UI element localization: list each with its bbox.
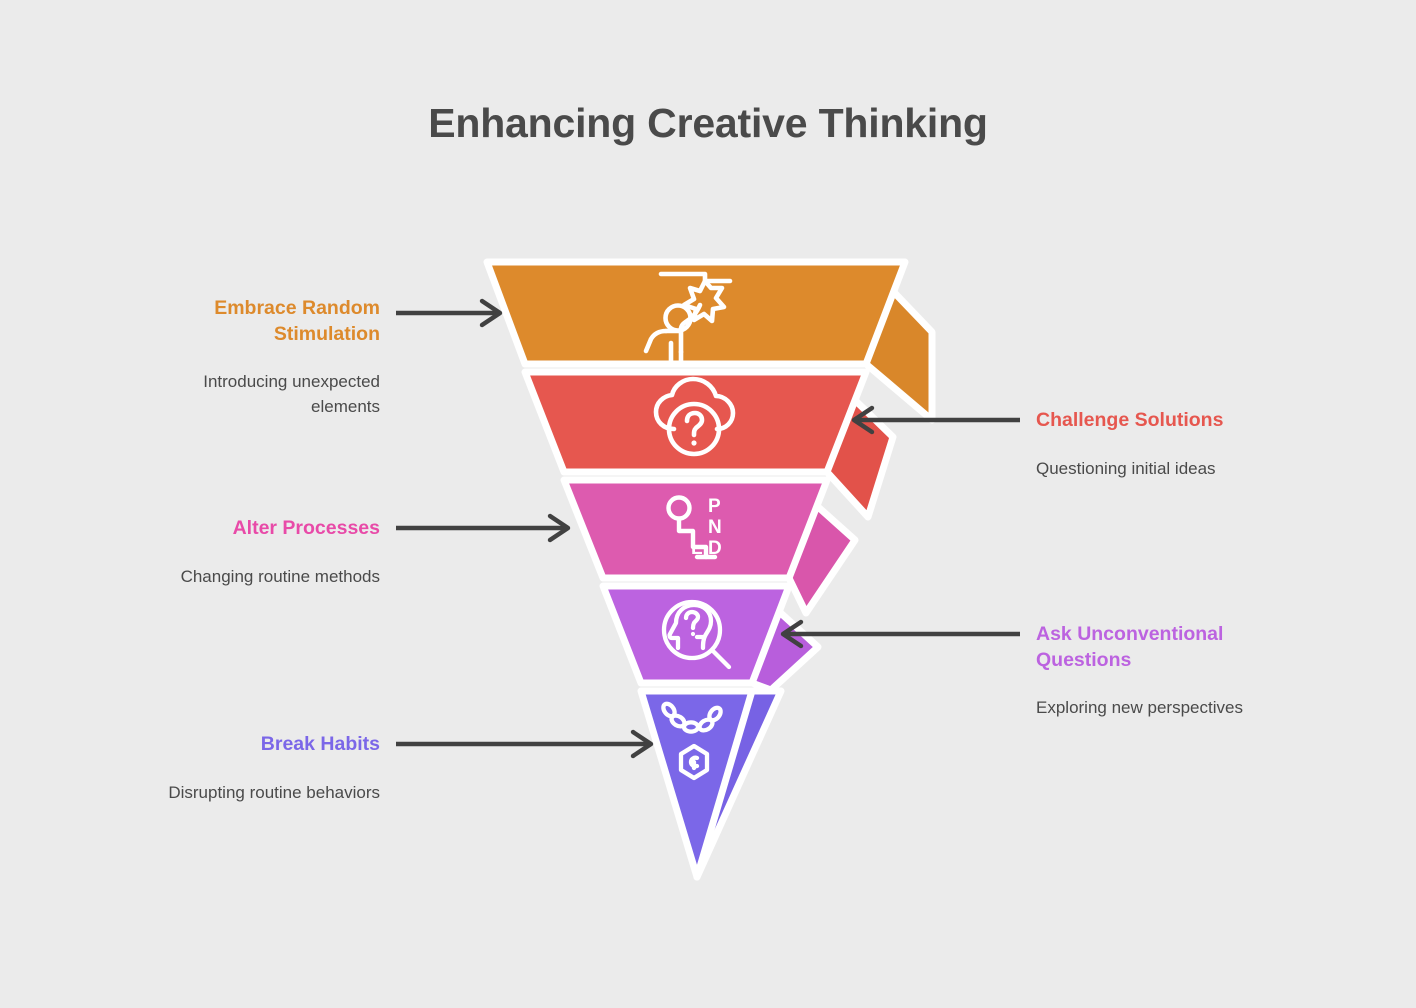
stage-5-title: Break Habits — [110, 731, 380, 757]
stage-3-label-block: Alter Processes Changing routine methods — [110, 515, 380, 589]
shifter-label-d: D — [708, 538, 722, 559]
funnel-diagram: P N D L — [0, 0, 1416, 1008]
stage-3-description: Changing routine methods — [110, 564, 380, 589]
arrow-stage-5 — [396, 732, 651, 756]
arrow-stage-1 — [396, 301, 500, 325]
stage-3-title: Alter Processes — [110, 515, 380, 541]
infographic-canvas: Enhancing Creative Thinking — [0, 0, 1416, 1008]
stage-2-title: Challenge Solutions — [1036, 407, 1326, 433]
funnel-stage-2-front-face — [525, 372, 866, 472]
funnel-stage-5[interactable] — [641, 691, 781, 877]
stage-4-title: Ask Unconventional Questions — [1036, 621, 1326, 673]
arrow-stage-4 — [783, 622, 1020, 646]
stage-1-label-block: Embrace Random Stimulation Introducing u… — [110, 295, 380, 419]
shifter-label-l: L — [691, 538, 703, 559]
stage-4-label-block: Ask Unconventional Questions Exploring n… — [1036, 621, 1326, 720]
stage-5-label-block: Break Habits Disrupting routine behavior… — [110, 731, 380, 805]
stage-1-title: Embrace Random Stimulation — [110, 295, 380, 347]
shifter-label-n: N — [708, 517, 722, 538]
stage-2-description: Questioning initial ideas — [1036, 456, 1326, 481]
stage-2-label-block: Challenge Solutions Questioning initial … — [1036, 407, 1326, 481]
funnel-stage-3-front-face — [564, 480, 827, 578]
stage-5-description: Disrupting routine behaviors — [110, 780, 380, 805]
arrow-stage-3 — [396, 516, 568, 540]
shifter-label-p: P — [708, 496, 721, 517]
stage-4-description: Exploring new perspectives — [1036, 695, 1326, 720]
stage-1-description: Introducing unexpected elements — [110, 369, 380, 419]
